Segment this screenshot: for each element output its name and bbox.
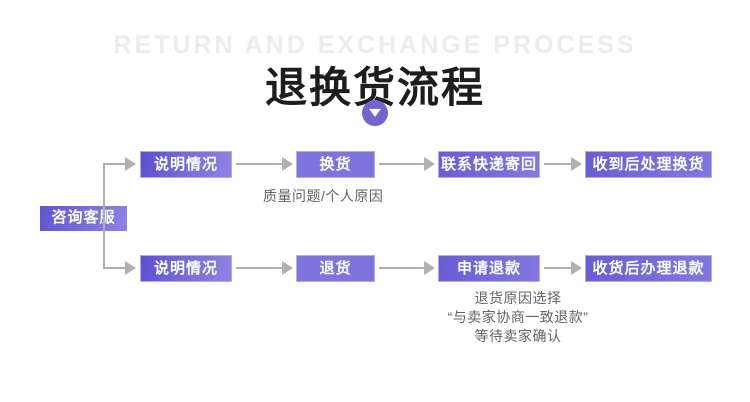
branch-bottom-arrowhead [125,261,136,275]
return-arrowhead-2 [424,261,435,275]
flow-node-return-step-4[interactable]: 收货后办理退款 [585,255,712,282]
exchange-connector-2 [379,163,425,165]
return-connector-1 [236,267,284,269]
return-connector-2 [379,267,425,269]
flow-node-exchange-step-4[interactable]: 收到后处理换货 [585,151,712,178]
return-branch-note-line-1: 退货原因选择 [408,289,628,308]
return-branch-note-line-2: “与卖家协商一致退款” [408,308,628,327]
return-branch-note: 退货原因选择 “与卖家协商一致退款” 等待卖家确认 [408,289,628,346]
exchange-branch-note: 质量问题/个人原因 [263,186,383,206]
return-connector-3 [544,267,572,269]
exchange-arrowhead-2 [424,157,435,171]
branch-top-arrowhead [125,157,136,171]
exchange-connector-1 [236,163,284,165]
return-arrowhead-1 [282,261,293,275]
exchange-connector-3 [544,163,572,165]
flow-node-exchange-step-3[interactable]: 联系快递寄回 [438,151,540,178]
branch-bottom-stub [103,267,125,269]
return-exchange-process-infographic: RETURN AND EXCHANGE PROCESS 退换货流程 咨询客服 说… [0,0,750,402]
flow-node-exchange-step-2[interactable]: 换货 [296,151,375,178]
flow-node-exchange-step-1[interactable]: 说明情况 [140,151,232,178]
branch-top-stub [103,163,125,165]
flow-node-return-step-3[interactable]: 申请退款 [438,255,540,282]
flow-node-return-step-1[interactable]: 说明情况 [140,255,232,282]
flow-node-return-step-2[interactable]: 退货 [296,255,375,282]
triangle-down-icon [362,100,388,126]
branch-vertical-connector [103,164,105,268]
return-arrowhead-3 [571,261,582,275]
exchange-arrowhead-3 [571,157,582,171]
return-branch-note-line-3: 等待卖家确认 [408,327,628,346]
flow-node-start-consult-service[interactable]: 咨询客服 [40,206,127,231]
exchange-arrowhead-1 [282,157,293,171]
triangle-down-glyph [369,109,381,117]
